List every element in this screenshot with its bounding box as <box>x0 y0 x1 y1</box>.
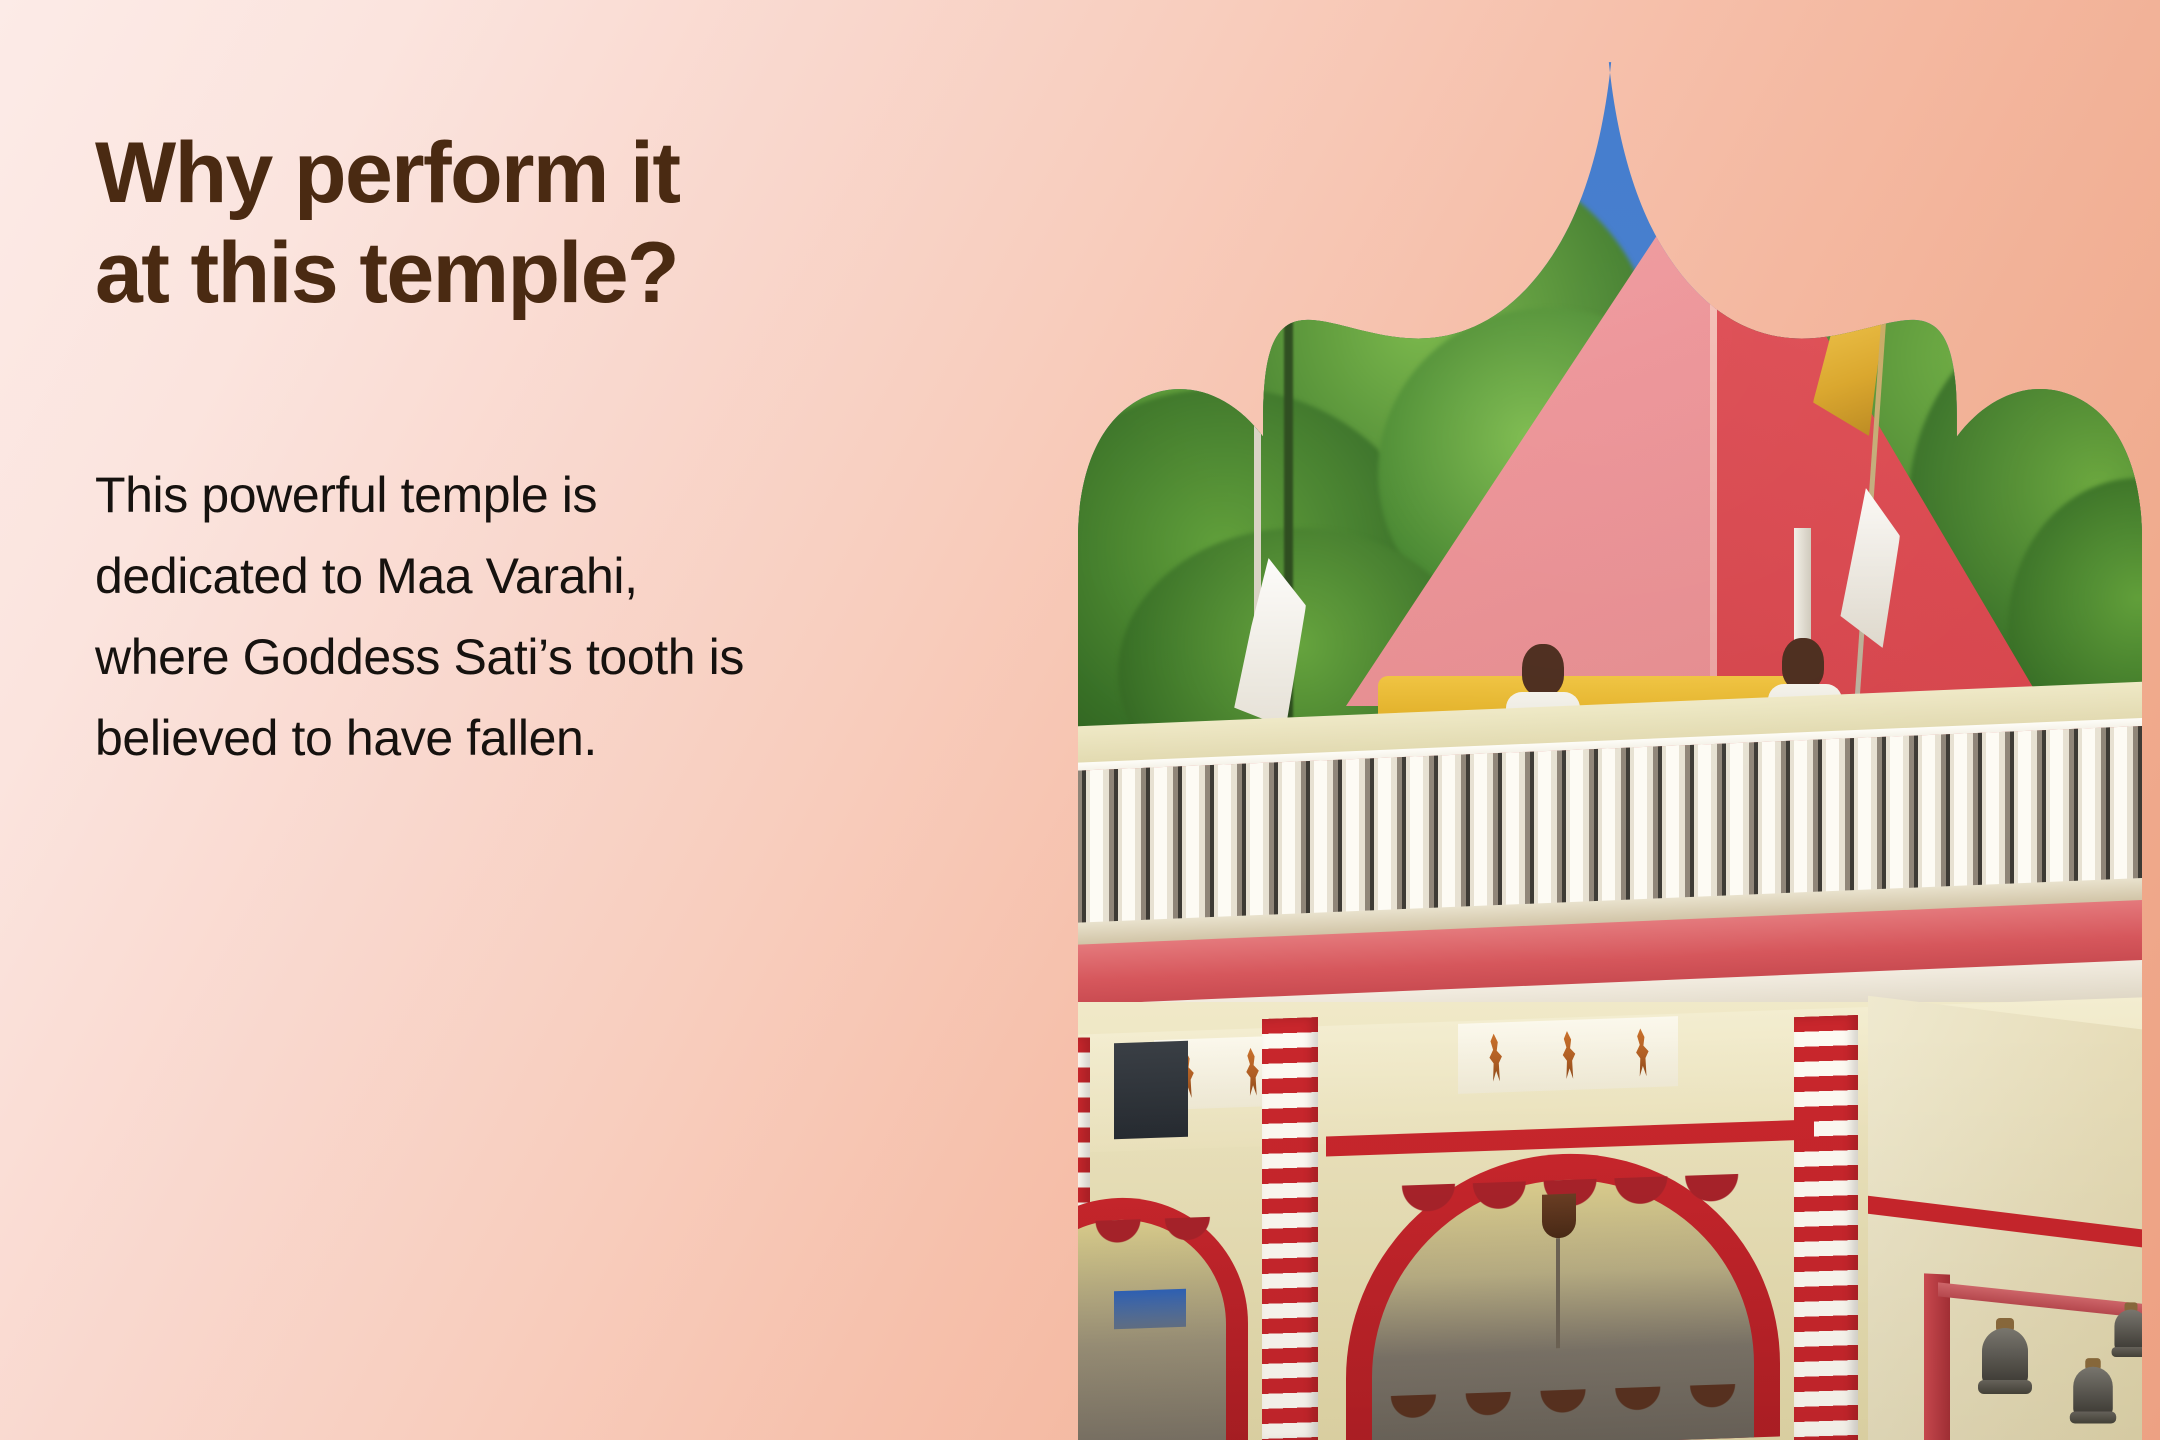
body-line-3: where Goddess Sati’s tooth is <box>95 617 995 698</box>
page-title: Why perform it at this temple? <box>95 124 995 324</box>
bell-dome <box>2114 1310 2142 1352</box>
headline-line-1: Why perform it <box>95 124 995 224</box>
horse-figure-icon <box>1628 1028 1654 1077</box>
horse-figure-icon <box>1555 1031 1581 1080</box>
headline-line-2: at this temple? <box>95 224 995 324</box>
bell-dome <box>2073 1367 2113 1417</box>
temple-bell-icon <box>2112 1302 2142 1365</box>
notice-board <box>1114 1041 1188 1140</box>
body-line-2: dedicated to Maa Varahi, <box>95 536 995 617</box>
slide-canvas: Why perform it at this temple? This powe… <box>0 0 2160 1440</box>
bell-cord <box>1556 1238 1560 1348</box>
body-line-1: This powerful temple is <box>95 455 995 536</box>
temple-bell-icon <box>2070 1358 2116 1434</box>
bell-lip <box>2070 1411 2116 1423</box>
temple-photo <box>1078 58 2142 1440</box>
body-line-4: believed to have fallen. <box>95 698 995 779</box>
bell-lip <box>2112 1347 2142 1357</box>
bell-dome <box>1982 1328 2028 1386</box>
hanging-bell-icon <box>1542 1194 1576 1239</box>
striped-pilaster <box>1262 1017 1318 1440</box>
devotee-head <box>1522 644 1564 696</box>
text-column: Why perform it at this temple? This powe… <box>95 0 1025 1440</box>
temple-bell-icon <box>1978 1318 2032 1406</box>
golden-finial-icon <box>1704 58 1720 152</box>
figure-frieze-panel <box>1458 1016 1678 1094</box>
temple-photo-frame <box>1078 58 2142 1440</box>
striped-pilaster <box>1794 1015 1858 1440</box>
main-archway <box>1346 1146 1780 1440</box>
bell-lip <box>1978 1380 2032 1394</box>
horse-figure-icon <box>1482 1033 1508 1082</box>
blue-signboard <box>1114 1289 1186 1330</box>
body-paragraph: This powerful temple is dedicated to Maa… <box>95 455 995 779</box>
red-post <box>1924 1273 1950 1440</box>
devotee-head <box>1782 638 1824 690</box>
horse-figure-icon <box>1239 1047 1265 1096</box>
side-arch-scallops <box>1078 1216 1220 1271</box>
shikhara-ridge <box>1710 144 1717 706</box>
